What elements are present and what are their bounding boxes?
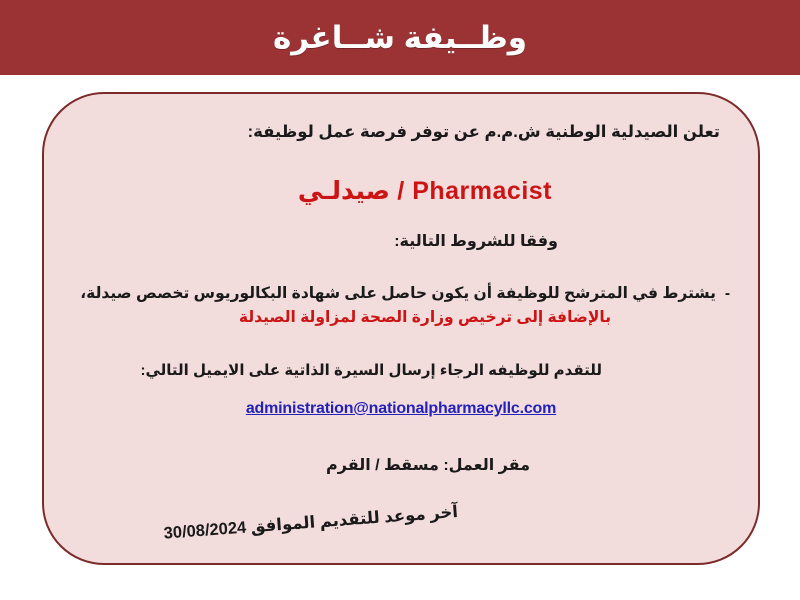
bullet-dash-icon: - <box>716 282 730 306</box>
poster-header-banner: وظــيفة شــاغرة <box>0 0 800 75</box>
condition-text-red: بالإضافة إلى ترخيص وزارة الصحة لمزاولة ا… <box>70 306 716 330</box>
email-link[interactable]: administration@nationalpharmacyllc.com <box>246 400 556 417</box>
job-title: Pharmacist / صيدلـي <box>298 176 552 207</box>
deadline-label: آخر موعد للتقديم الموافق <box>246 503 459 537</box>
condition-item: -يشترط في المترشح للوظيفة أن يكون حاصل ع… <box>70 282 730 330</box>
deadline-date: 30/08/2024 <box>163 518 247 545</box>
work-location: مقر العمل: مسقط / القرم <box>326 456 530 476</box>
condition-text-black: يشترط في المترشح للوظيفة أن يكون حاصل عل… <box>80 285 716 302</box>
apply-instruction: للتقدم للوظيفه الرجاء إرسال السيرة الذات… <box>140 362 602 381</box>
vacancy-poster: وظــيفة شــاغرة تعلن الصيدلية الوطنية ش.… <box>0 0 800 600</box>
conditions-header: وفقا للشروط التالية: <box>394 232 558 252</box>
announcement-card: تعلن الصيدلية الوطنية ش.م.م عن توفر فرصة… <box>42 92 760 565</box>
application-deadline: آخر موعد للتقديم الموافق 30/08/2024 <box>163 502 459 544</box>
intro-text: تعلن الصيدلية الوطنية ش.م.م عن توفر فرصة… <box>248 122 720 143</box>
poster-title: وظــيفة شــاغرة <box>273 22 527 53</box>
email-row: administration@nationalpharmacyllc.com <box>44 399 758 419</box>
conditions-list: -يشترط في المترشح للوظيفة أن يكون حاصل ع… <box>70 282 730 330</box>
